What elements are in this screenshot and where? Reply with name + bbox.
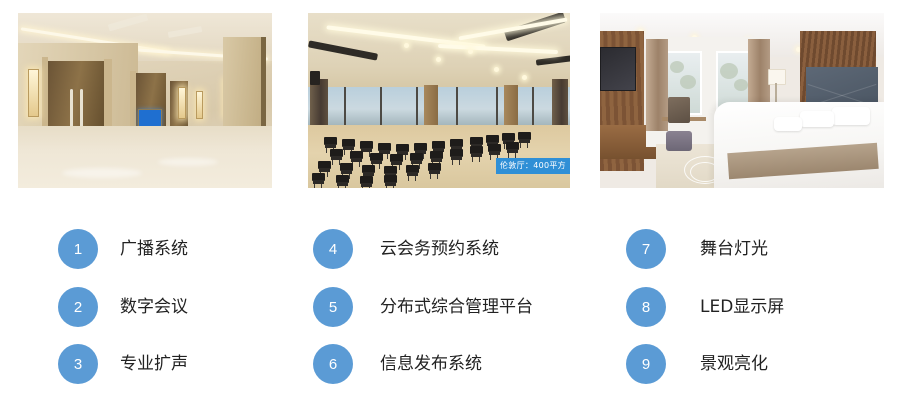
- lobby-floor: [18, 126, 272, 188]
- elevator-lobby-scene: [18, 13, 272, 188]
- floor-reflection-a: [62, 168, 142, 178]
- hall-window-band: [308, 87, 570, 127]
- window-mullion-4: [456, 87, 458, 127]
- feature-item-9[interactable]: 9 景观亮化: [626, 344, 768, 384]
- feature-label-5: 分布式综合管理平台: [380, 299, 533, 316]
- feature-column-three: 7 舞台灯光 8 LED显示屏 9 景观亮化: [600, 200, 900, 414]
- feature-item-5[interactable]: 5 分布式综合管理平台: [313, 287, 533, 327]
- downlight-1: [404, 43, 409, 48]
- conference-hall-photo: 伦敦厅：400平方: [308, 13, 570, 188]
- room-floor-lamp-shade: [768, 69, 786, 85]
- window-mullion-2: [380, 87, 382, 127]
- feature-item-4[interactable]: 4 云会务预约系统: [313, 229, 499, 269]
- feature-label-8: LED显示屏: [700, 299, 784, 316]
- room-desk-chair: [668, 97, 690, 123]
- feature-label-3: 专业扩声: [120, 356, 188, 373]
- feature-column-two: 4 云会务预约系统 5 分布式综合管理平台 6 信息发布系统: [300, 200, 600, 414]
- feature-label-2: 数字会议: [120, 299, 188, 316]
- feature-number-badge-9: 9: [626, 344, 666, 384]
- window-mullion-6: [532, 87, 534, 127]
- downlight-5: [522, 75, 527, 80]
- feature-item-1[interactable]: 1 广播系统: [58, 229, 188, 269]
- downlight-2: [436, 57, 441, 62]
- feature-item-8[interactable]: 8 LED显示屏: [626, 287, 784, 327]
- feature-item-7[interactable]: 7 舞台灯光: [626, 229, 768, 269]
- guest-room-scene: [600, 13, 884, 188]
- wall-sconce-3: [196, 91, 203, 119]
- feature-number-badge-4: 4: [313, 229, 353, 269]
- hall-area-caption: 伦敦厅：400平方: [496, 158, 570, 174]
- room-pillow-2: [800, 111, 834, 127]
- downlight-3: [468, 49, 473, 54]
- foliage-b: [680, 75, 696, 89]
- downlight-4: [494, 67, 499, 72]
- floor-reflection-b: [158, 158, 218, 166]
- photo-strip: 伦敦厅：400平方: [0, 0, 900, 200]
- wall-sconce-2: [178, 87, 186, 119]
- room-ottoman: [666, 131, 692, 151]
- feature-number-badge-6: 6: [313, 344, 353, 384]
- elevator-lobby-photo: [18, 13, 272, 188]
- feature-item-6[interactable]: 6 信息发布系统: [313, 344, 482, 384]
- feature-number-badge-3: 3: [58, 344, 98, 384]
- window-mullion-3: [416, 87, 418, 127]
- room-pillow-1: [832, 107, 870, 125]
- feature-list: 1 广播系统 2 数字会议 3 专业扩声 4 云会务预约系统 5 分布式综合管理…: [0, 200, 900, 414]
- feature-number-badge-8: 8: [626, 287, 666, 327]
- feature-label-6: 信息发布系统: [380, 356, 482, 373]
- feature-column-one: 1 广播系统 2 数字会议 3 专业扩声: [0, 200, 300, 414]
- feature-number-badge-1: 1: [58, 229, 98, 269]
- feature-number-badge-7: 7: [626, 229, 666, 269]
- room-television: [600, 47, 636, 91]
- slide-root: 伦敦厅：400平方: [0, 0, 900, 414]
- lobby-info-screen: [138, 109, 162, 127]
- feature-label-4: 云会务预约系统: [380, 241, 499, 258]
- foliage-c: [720, 63, 738, 79]
- window-mullion-1: [344, 87, 346, 127]
- conference-hall-scene: 伦敦厅：400平方: [308, 13, 570, 188]
- feature-label-9: 景观亮化: [700, 356, 768, 373]
- foliage-a: [670, 61, 684, 73]
- feature-number-badge-5: 5: [313, 287, 353, 327]
- feature-label-7: 舞台灯光: [700, 241, 768, 258]
- guest-room-photo: [600, 13, 884, 188]
- room-pillow-3: [774, 117, 802, 131]
- feature-item-3[interactable]: 3 专业扩声: [58, 344, 188, 384]
- wall-sconce-1: [28, 69, 39, 117]
- feature-item-2[interactable]: 2 数字会议: [58, 287, 188, 327]
- feature-number-badge-2: 2: [58, 287, 98, 327]
- hall-speaker: [310, 71, 320, 85]
- window-mullion-5: [496, 87, 498, 127]
- foliage-d: [734, 79, 748, 91]
- feature-label-1: 广播系统: [120, 241, 188, 258]
